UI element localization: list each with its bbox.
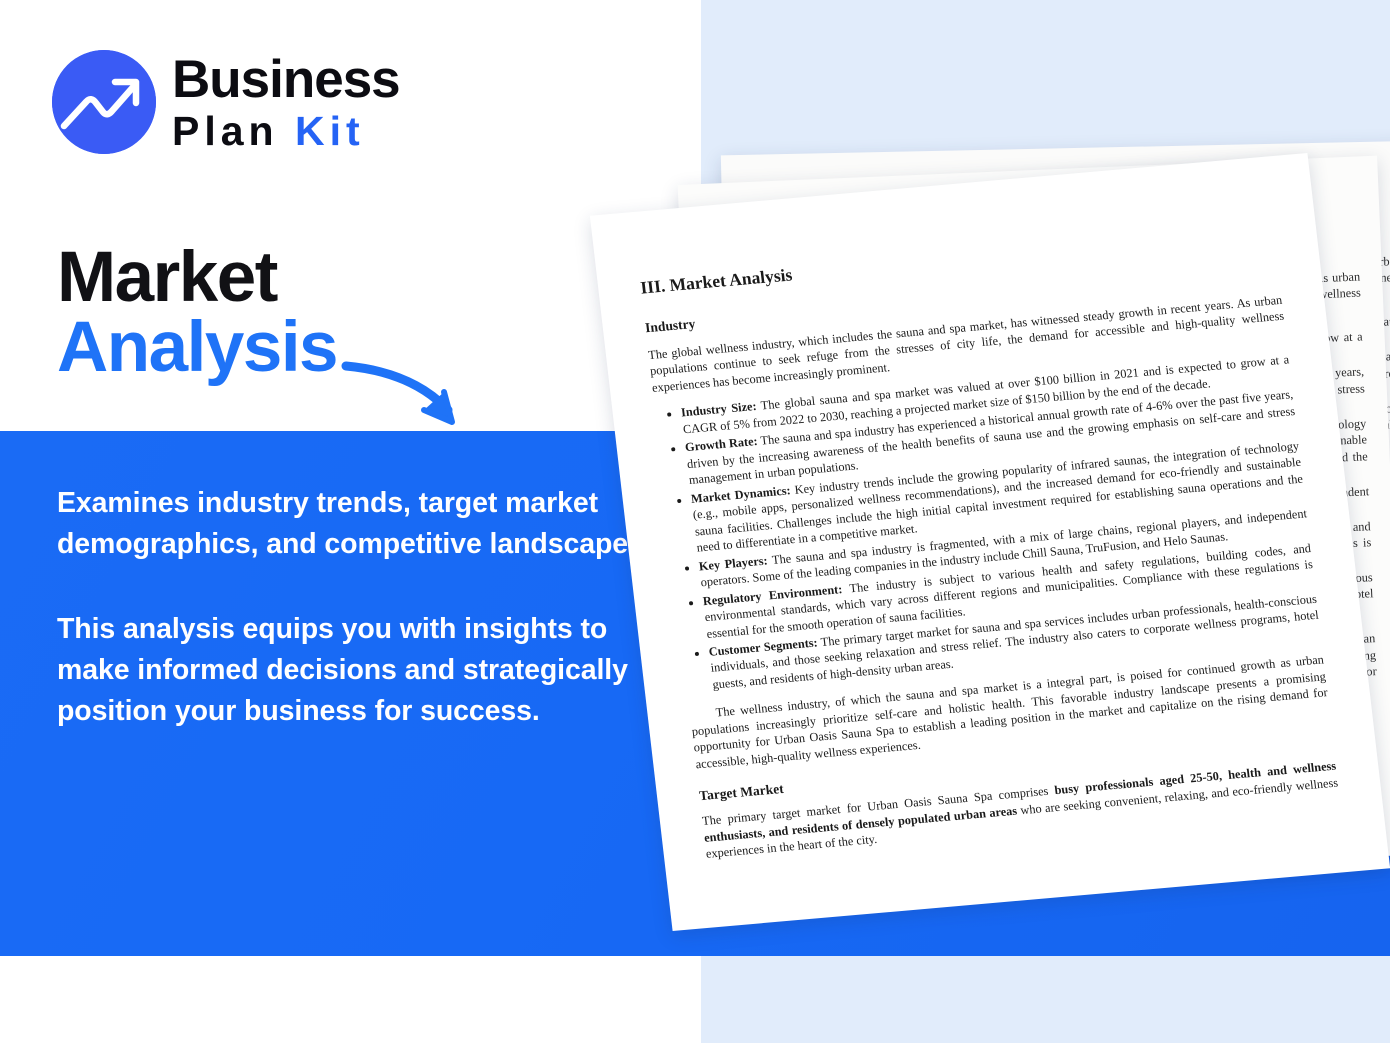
document-preview-stack: III. Market Analysis Industry The global… xyxy=(600,120,1390,940)
document-sheet-front: III. Market Analysis Industry The global… xyxy=(590,153,1390,931)
page-title-line2: Analysis xyxy=(57,313,337,383)
curved-down-right-arrow-icon xyxy=(340,348,510,443)
description-paragraph-1: Examines industry trends, target market … xyxy=(57,483,657,566)
brand-logo: Business Plan Kit xyxy=(52,50,400,154)
brand-name-plan: Plan xyxy=(172,108,295,154)
brand-name-line1: Business xyxy=(172,53,400,107)
document-industry-bullets: Industry Size: The global sauna and spa … xyxy=(654,352,1321,695)
background-panel-bottom-right xyxy=(701,956,1390,1043)
brand-name-line2: Plan Kit xyxy=(172,110,400,153)
document-page-front: III. Market Analysis Industry The global… xyxy=(590,153,1390,931)
uptrend-arrow-circle-icon xyxy=(52,50,156,154)
description-paragraph-2: This analysis equips you with insights t… xyxy=(57,609,657,733)
description-block: Examines industry trends, target market … xyxy=(57,483,657,733)
page-title-line1: Market xyxy=(57,243,337,313)
brand-name-kit: Kit xyxy=(295,108,365,154)
brand-wordmark: Business Plan Kit xyxy=(172,51,400,152)
page-title: Market Analysis xyxy=(57,243,337,382)
slide-canvas: Business Plan Kit Market Analysis Examin… xyxy=(0,0,1390,1043)
